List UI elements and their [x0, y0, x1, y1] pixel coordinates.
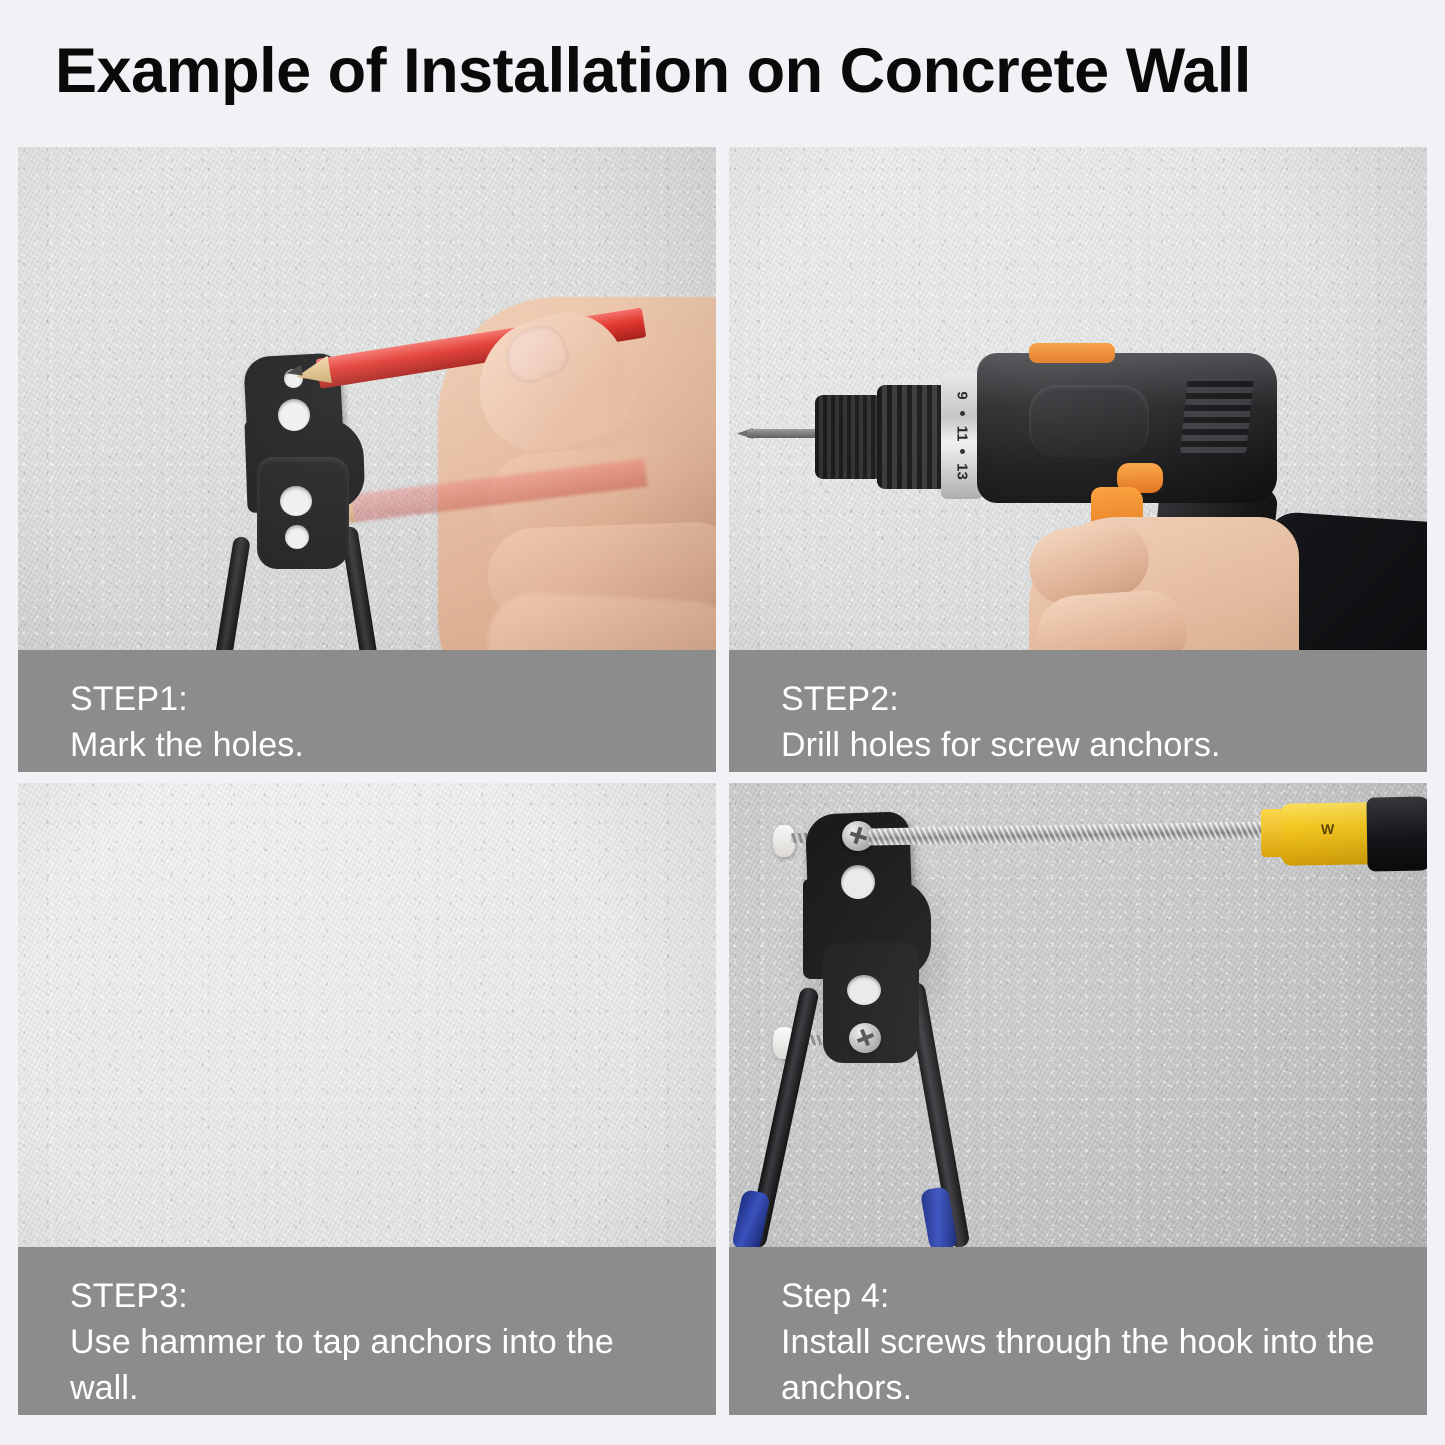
drill-chuck-front — [815, 395, 881, 479]
step-panel-3: STEP3: Use hammer to tap anchors into th… — [18, 783, 716, 1415]
step-4-label: Step 4: — [781, 1273, 1427, 1319]
torque-value-13: 13 — [954, 457, 971, 487]
step-4-caption: Step 4: Install screws through the hook … — [729, 1247, 1427, 1415]
step-2-caption: STEP2: Drill holes for screw anchors. — [729, 650, 1427, 772]
step-1-caption: STEP1: Mark the holes. — [18, 650, 716, 772]
step-3-instruction-line-1: Use hammer to tap anchors into the — [70, 1319, 716, 1365]
mounting-hole-upper — [841, 865, 875, 899]
step-3-caption: STEP3: Use hammer to tap anchors into th… — [18, 1247, 716, 1415]
step-2-label: STEP2: — [781, 676, 1427, 722]
mounting-hole-2 — [278, 399, 310, 431]
drill-chuck-rear — [877, 385, 947, 489]
drill-vents — [1180, 375, 1254, 455]
torque-dot-2 — [960, 411, 965, 416]
step-panel-4: W Step 4: Install screws through the hoo… — [729, 783, 1427, 1415]
step-panel-2: 13 11 9 STEP2: Drill hol — [729, 147, 1427, 772]
page-title: Example of Installation on Concrete Wall — [55, 30, 1405, 112]
torque-value-9: 9 — [954, 381, 971, 411]
steps-grid: STEP1: Mark the holes. 13 11 9 — [18, 147, 1427, 1415]
drill-bit — [747, 429, 825, 438]
step-4-instruction-line-1: Install screws through the hook into the — [781, 1319, 1427, 1365]
mounting-hole-3 — [280, 486, 312, 516]
torque-dot-1 — [960, 449, 965, 454]
torque-value-11: 11 — [954, 419, 971, 449]
screwdriver-brand-mark: W — [1321, 821, 1335, 837]
step-panel-1: STEP1: Mark the holes. — [18, 147, 716, 772]
step-4-instruction-line-2: anchors. — [781, 1365, 1427, 1411]
mounting-hole-lower — [847, 975, 881, 1005]
drill-body-panel — [1029, 385, 1149, 457]
screwdriver-handle-grip — [1366, 796, 1427, 871]
drill-top-accent — [1029, 343, 1115, 363]
step-3-instruction-line-2: wall. — [70, 1365, 716, 1411]
step-1-label: STEP1: — [70, 676, 716, 722]
step-1-instruction: Mark the holes. — [70, 722, 716, 768]
installation-guide-page: Example of Installation on Concrete Wall — [0, 0, 1445, 1445]
step-2-instruction: Drill holes for screw anchors. — [781, 722, 1427, 768]
mounting-hole-4 — [285, 525, 309, 549]
step-3-label: STEP3: — [70, 1273, 716, 1319]
